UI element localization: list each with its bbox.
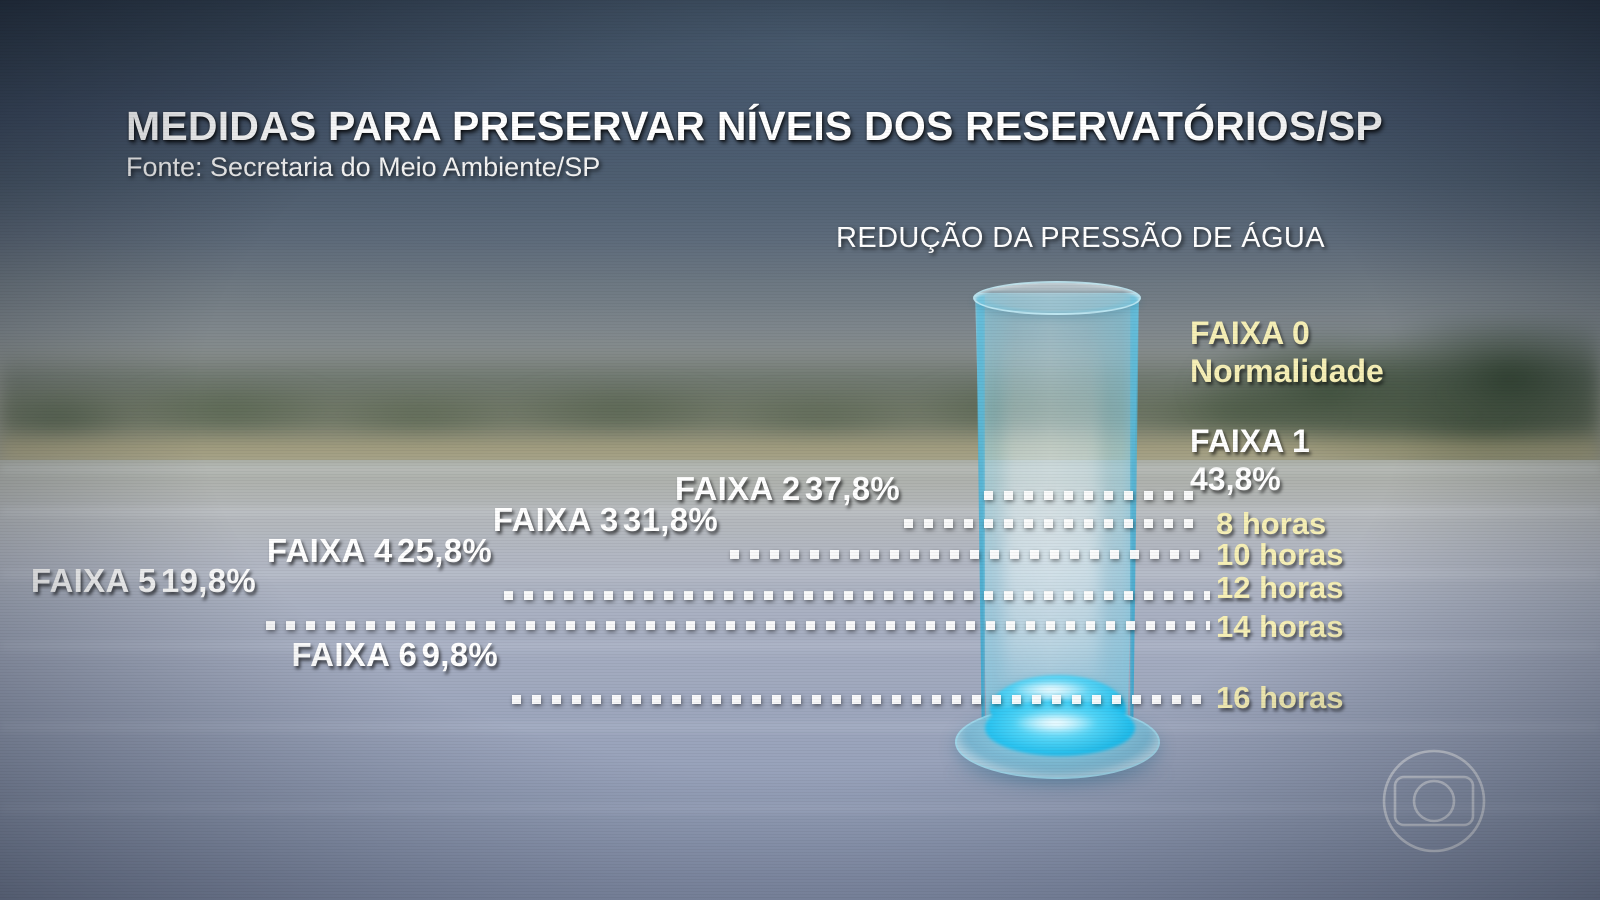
label-hours-16: 16 horas	[1216, 680, 1344, 716]
section-title: REDUÇÃO DA PRESSÃO DE ÁGUA	[836, 222, 1325, 255]
label-faixa-3-name: FAIXA 3	[493, 501, 619, 538]
label-faixa-2-value: 37,8%	[805, 470, 900, 507]
label-faixa-6-value: 9,8%	[422, 636, 498, 673]
label-faixa-1-value: 43,8%	[1190, 461, 1281, 497]
label-faixa-4: FAIXA 4 25,8%	[252, 532, 492, 570]
label-faixa-4-value: 25,8%	[397, 532, 492, 569]
label-hours-14: 14 horas	[1216, 609, 1344, 645]
leader-line-faixa-1	[984, 491, 1202, 500]
label-faixa-6-name: FAIXA 6	[292, 636, 418, 673]
label-faixa-5-name: FAIXA 5	[31, 562, 157, 599]
leader-line-faixa-5	[266, 621, 1210, 630]
glass-left-edge	[976, 295, 985, 719]
leader-line-faixa-2	[904, 519, 1204, 528]
label-faixa-0-name: FAIXA 0	[1190, 315, 1310, 351]
glass-rim-highlight	[992, 285, 1122, 295]
label-faixa-5: FAIXA 5 19,8%	[16, 562, 256, 600]
label-faixa-1: FAIXA 1 43,8%	[1190, 423, 1310, 499]
label-faixa-0: FAIXA 0 Normalidade	[1190, 315, 1384, 391]
leader-line-faixa-6	[512, 695, 1210, 704]
glass-sheen	[1004, 335, 1100, 695]
globo-logo-icon	[1378, 745, 1490, 857]
glass-right-edge	[1130, 295, 1139, 719]
background-water-ripples	[0, 460, 1600, 900]
label-faixa-3-value: 31,8%	[623, 501, 718, 538]
glass-base-highlight	[1012, 713, 1098, 733]
label-faixa-1-name: FAIXA 1	[1190, 423, 1310, 459]
label-hours-12: 12 horas	[1216, 570, 1344, 606]
source-credit: Fonte: Secretaria do Meio Ambiente/SP	[126, 152, 600, 183]
water-glass-illustration	[940, 275, 1180, 795]
label-faixa-3: FAIXA 3 31,8%	[478, 501, 718, 539]
label-faixa-4-name: FAIXA 4	[267, 532, 393, 569]
leader-line-faixa-4	[504, 591, 1210, 600]
label-faixa-0-measure: Normalidade	[1190, 353, 1384, 389]
page-title: MEDIDAS PARA PRESERVAR NÍVEIS DOS RESERV…	[126, 103, 1383, 150]
leader-line-faixa-3	[730, 550, 1208, 559]
label-faixa-5-value: 19,8%	[161, 562, 256, 599]
label-hours-10: 10 horas	[1216, 537, 1344, 573]
infographic-screen: MEDIDAS PARA PRESERVAR NÍVEIS DOS RESERV…	[0, 0, 1600, 900]
label-faixa-6: FAIXA 6 9,8%	[258, 636, 498, 674]
